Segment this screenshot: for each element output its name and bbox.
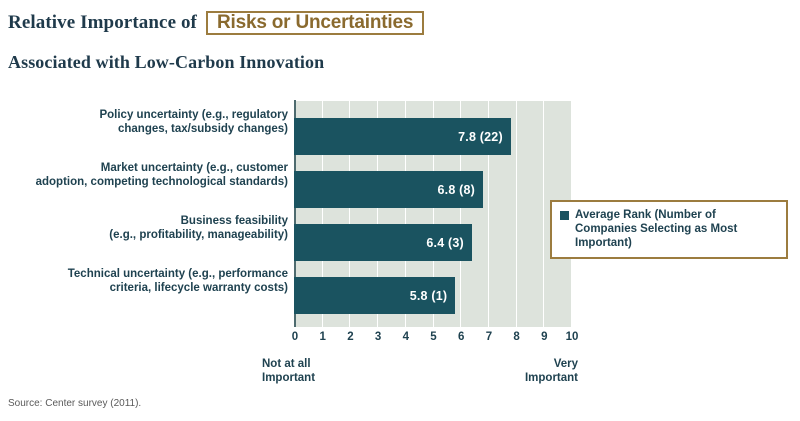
- xtick-5: 5: [430, 331, 436, 343]
- axis-anchor-high: Very Important: [525, 357, 578, 385]
- category-label-business: Business feasibility (e.g., profitabilit…: [20, 214, 288, 242]
- bar-policy-uncertainty[interactable]: 7.8 (22): [294, 118, 511, 155]
- title-highlight-text: Risks or Uncertainties: [217, 12, 413, 34]
- xtick-3: 3: [375, 331, 381, 343]
- x-axis: 0 1 2 3 4 5 6 7 8 9 10: [294, 327, 572, 349]
- bar-market-uncertainty[interactable]: 6.8 (8): [294, 171, 483, 208]
- xtick-2: 2: [347, 331, 353, 343]
- chart-container: Relative Importance of Risks or Uncertai…: [0, 0, 800, 421]
- chart-legend: Average Rank (Number of Companies Select…: [550, 200, 788, 259]
- page-subtitle: Associated with Low-Carbon Innovation: [8, 52, 324, 73]
- category-axis-labels: Policy uncertainty (e.g., regulatory cha…: [20, 100, 288, 328]
- xtick-7: 7: [486, 331, 492, 343]
- bar-value-label: 5.8 (1): [410, 289, 456, 303]
- source-note: Source: Center survey (2011).: [8, 398, 141, 409]
- bar-value-label: 6.4 (3): [426, 236, 472, 250]
- category-label-policy: Policy uncertainty (e.g., regulatory cha…: [20, 108, 288, 136]
- axis-anchor-low: Not at all Important: [262, 357, 315, 385]
- bar-value-label: 6.8 (8): [438, 183, 484, 197]
- legend-label: Average Rank (Number of Companies Select…: [575, 208, 778, 250]
- legend-swatch-icon: [560, 211, 569, 220]
- xtick-10: 10: [566, 331, 579, 343]
- page-title-prefix: Relative Importance of: [8, 12, 197, 34]
- category-label-market: Market uncertainty (e.g., customer adopt…: [20, 161, 288, 189]
- bars-layer: 7.8 (22) 6.8 (8) 6.4 (3) 5.8 (1): [294, 100, 572, 327]
- bar-technical-uncertainty[interactable]: 5.8 (1): [294, 277, 455, 314]
- xtick-0: 0: [292, 331, 298, 343]
- chart-title-line: Relative Importance of Risks or Uncertai…: [8, 8, 424, 38]
- bar-business-feasibility[interactable]: 6.4 (3): [294, 224, 472, 261]
- category-label-technical: Technical uncertainty (e.g., performance…: [20, 267, 288, 295]
- xtick-1: 1: [319, 331, 325, 343]
- xtick-8: 8: [513, 331, 519, 343]
- bar-value-label: 7.8 (22): [458, 130, 511, 144]
- xtick-9: 9: [541, 331, 547, 343]
- xtick-4: 4: [403, 331, 409, 343]
- title-highlight-box: Risks or Uncertainties: [206, 11, 424, 35]
- xtick-6: 6: [458, 331, 464, 343]
